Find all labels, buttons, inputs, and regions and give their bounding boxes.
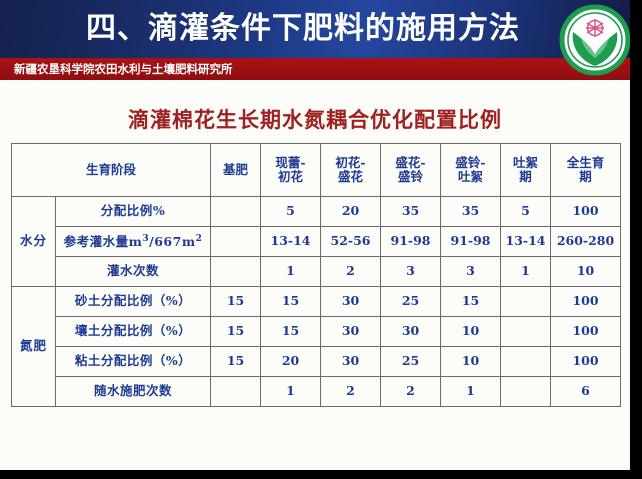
cell-value: 100: [551, 347, 621, 377]
table-row: 随水施肥次数 1 2 2 1 6: [12, 377, 621, 407]
cell-value: 30: [321, 347, 381, 377]
header-cell-stage-3: 盛花- 盛铃: [381, 144, 441, 197]
page-title: 四、滴灌条件下肥料的施用方法: [58, 3, 548, 55]
cell-value: [501, 347, 551, 377]
cell-value: [501, 317, 551, 347]
cell-value: 1: [441, 377, 501, 407]
cell-value: 5: [261, 197, 321, 227]
row-label-sandy-soil: 砂土分配比例（%）: [56, 287, 211, 317]
table-row: 灌水次数 1 2 3 3 1 10: [12, 257, 621, 287]
cell-value: 15: [441, 287, 501, 317]
cell-value: 25: [381, 287, 441, 317]
cell-value: 91-98: [441, 227, 501, 257]
table-row: 粘土分配比例（%） 15 20 30 25 10 100: [12, 347, 621, 377]
cell-value: 1: [261, 377, 321, 407]
header-cell-total: 全生育 期: [551, 144, 621, 197]
cell-value: 100: [551, 287, 621, 317]
cell-value: 3: [381, 257, 441, 287]
cell-value: 15: [261, 287, 321, 317]
row-label-irrigation-times: 灌水次数: [56, 257, 211, 287]
cell-value: [501, 377, 551, 407]
cell-value: 13-14: [501, 227, 551, 257]
header-cell-basefert: 基肥: [211, 144, 261, 197]
cell-value: 20: [261, 347, 321, 377]
cell-value: 6: [551, 377, 621, 407]
cell-value: 30: [381, 317, 441, 347]
cell-value: 10: [441, 347, 501, 377]
cell-value: 1: [501, 257, 551, 287]
letterbox-right: [630, 0, 642, 479]
group-label-nitrogen: 氮肥: [12, 287, 56, 407]
table-row: 氮肥 砂土分配比例（%） 15 15 30 25 15 100: [12, 287, 621, 317]
slide-canvas: 四、滴灌条件下肥料的施用方法 新疆农垦科学院农田水利与土壤肥料研究所 滴灌棉花生…: [0, 0, 630, 470]
cell-value: 25: [381, 347, 441, 377]
row-label-irrigation-amount: 参考灌水量m3/667m2: [56, 227, 211, 257]
header-cell-stage-5: 吐絮 期: [501, 144, 551, 197]
cell-value: 10: [551, 257, 621, 287]
cell-value: [211, 227, 261, 257]
cell-value: 52-56: [321, 227, 381, 257]
group-label-water: 水分: [12, 197, 56, 287]
table-row: 壤土分配比例（%） 15 15 30 30 10 100: [12, 317, 621, 347]
cell-value: 30: [321, 317, 381, 347]
cell-value: 2: [321, 257, 381, 287]
institute-name: 新疆农垦科学院农田水利与土壤肥料研究所: [14, 59, 233, 79]
cell-value: 1: [261, 257, 321, 287]
cell-value: 15: [261, 317, 321, 347]
table-row: 参考灌水量m3/667m2 13-14 52-56 91-98 91-98 13…: [12, 227, 621, 257]
academy-emblem-icon: [559, 4, 630, 76]
cell-value: 15: [211, 347, 261, 377]
cell-value: 15: [211, 287, 261, 317]
cell-value: 2: [321, 377, 381, 407]
cell-value: 10: [441, 317, 501, 347]
header-cell-stage-2: 初花- 盛花: [321, 144, 381, 197]
cell-value: 35: [441, 197, 501, 227]
cell-value: 15: [211, 317, 261, 347]
cell-value: [211, 257, 261, 287]
table-title: 滴灌棉花生长期水氮耦合优化配置比例: [0, 104, 630, 134]
cell-value: [211, 197, 261, 227]
cell-value: 13-14: [261, 227, 321, 257]
table-header-row: 生育阶段 基肥 现蕾- 初花 初花- 盛花 盛花- 盛铃: [12, 144, 621, 197]
cell-value: 100: [551, 197, 621, 227]
data-table: 生育阶段 基肥 现蕾- 初花 初花- 盛花 盛花- 盛铃: [11, 143, 620, 407]
row-label-clay-soil: 粘土分配比例（%）: [56, 347, 211, 377]
header-cell-stage-1: 现蕾- 初花: [261, 144, 321, 197]
cell-value: 30: [321, 287, 381, 317]
letterbox-bottom: [0, 470, 642, 479]
row-label-fertigation-times: 随水施肥次数: [56, 377, 211, 407]
cell-value: 100: [551, 317, 621, 347]
cell-value: [501, 287, 551, 317]
header-cell-stage-4: 盛铃- 吐絮: [441, 144, 501, 197]
cell-value: 35: [381, 197, 441, 227]
table-row: 水分 分配比例% 5 20 35 35 5 100: [12, 197, 621, 227]
row-label-ratio: 分配比例%: [56, 197, 211, 227]
cell-value: 2: [381, 377, 441, 407]
cell-value: 3: [441, 257, 501, 287]
cell-value: 260-280: [551, 227, 621, 257]
cell-value: [211, 377, 261, 407]
row-label-loam-soil: 壤土分配比例（%）: [56, 317, 211, 347]
cell-value: 91-98: [381, 227, 441, 257]
cell-value: 5: [501, 197, 551, 227]
header-cell-stage: 生育阶段: [12, 144, 211, 197]
cell-value: 20: [321, 197, 381, 227]
